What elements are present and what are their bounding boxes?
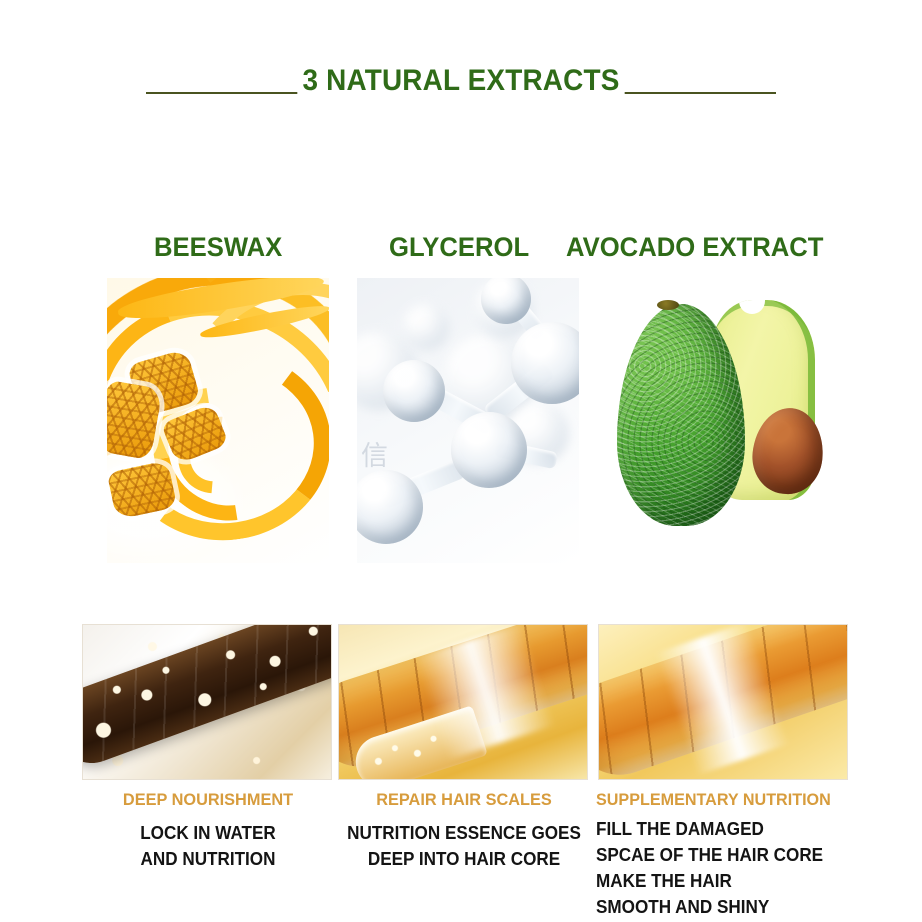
background-atom-2: [403, 304, 449, 350]
benefits-section: DEEP NOURISHMENT LOCK IN WATER AND NUTRI…: [0, 620, 922, 922]
benefit-body-3: FILL THE DAMAGED SPCAE OF THE HAIR CORE …: [596, 816, 843, 920]
atom-sphere-left: [383, 360, 445, 422]
page-title-text: 3 NATURAL EXTRACTS: [297, 64, 625, 97]
smooth-golden-hair-image: [598, 624, 848, 780]
page-header: 3 NATURAL EXTRACTS: [0, 64, 922, 122]
benefit-body-line: LOCK IN WATER: [85, 820, 332, 846]
dark-hair-strand-image: [82, 624, 332, 780]
benefit-body-line: FILL THE DAMAGED: [596, 816, 843, 842]
avocado-whole: [617, 304, 745, 526]
ingredient-label-glycerol: GLYCEROL: [389, 232, 529, 263]
smooth-hair-artwork: [599, 625, 847, 779]
benefit-heading-1: DEEP NOURISHMENT: [83, 790, 333, 810]
benefit-body-line: AND NUTRITION: [85, 846, 332, 872]
benefit-body-line: MAKE THE HAIR: [596, 868, 843, 894]
avocado-stem: [657, 300, 679, 310]
watermark-text: 信: [361, 434, 392, 473]
golden-hair-artwork: [339, 625, 587, 779]
atom-sphere-bottom: [357, 470, 423, 544]
benefit-body-line: SPCAE OF THE HAIR CORE: [596, 842, 843, 868]
atom-sphere-center: [451, 412, 527, 488]
benefit-body-line: NUTRITION ESSENCE GOES: [341, 820, 588, 846]
golden-hair-cuticle-image: [338, 624, 588, 780]
avocado-artwork: [603, 278, 825, 563]
ingredients-section: BEESWAX GLYCEROL AVOCADO EXTRACT: [0, 232, 922, 584]
benefit-body-2: NUTRITION ESSENCE GOES DEEP INTO HAIR CO…: [341, 820, 588, 872]
honey-swirl-image: [107, 278, 329, 563]
ingredient-label-avocado: AVOCADO EXTRACT: [566, 232, 823, 263]
benefit-body-line: DEEP INTO HAIR CORE: [341, 846, 588, 872]
benefit-body-line: SMOOTH AND SHINY: [596, 894, 843, 920]
ingredient-labels: BEESWAX GLYCEROL AVOCADO EXTRACT: [0, 232, 922, 276]
avocado-image: [603, 278, 825, 563]
benefit-heading-3: SUPPLEMENTARY NUTRITION: [596, 790, 843, 810]
ingredient-label-beeswax: BEESWAX: [154, 232, 282, 263]
dark-hair-artwork: [83, 625, 331, 779]
honey-artwork: [107, 278, 329, 563]
molecule-structure-image: 信: [357, 278, 579, 563]
molecule-artwork: 信: [357, 278, 579, 563]
page-title: 3 NATURAL EXTRACTS: [32, 64, 889, 98]
benefit-heading-2: REPAIR HAIR SCALES: [339, 790, 589, 810]
benefit-body-1: LOCK IN WATER AND NUTRITION: [85, 820, 332, 872]
